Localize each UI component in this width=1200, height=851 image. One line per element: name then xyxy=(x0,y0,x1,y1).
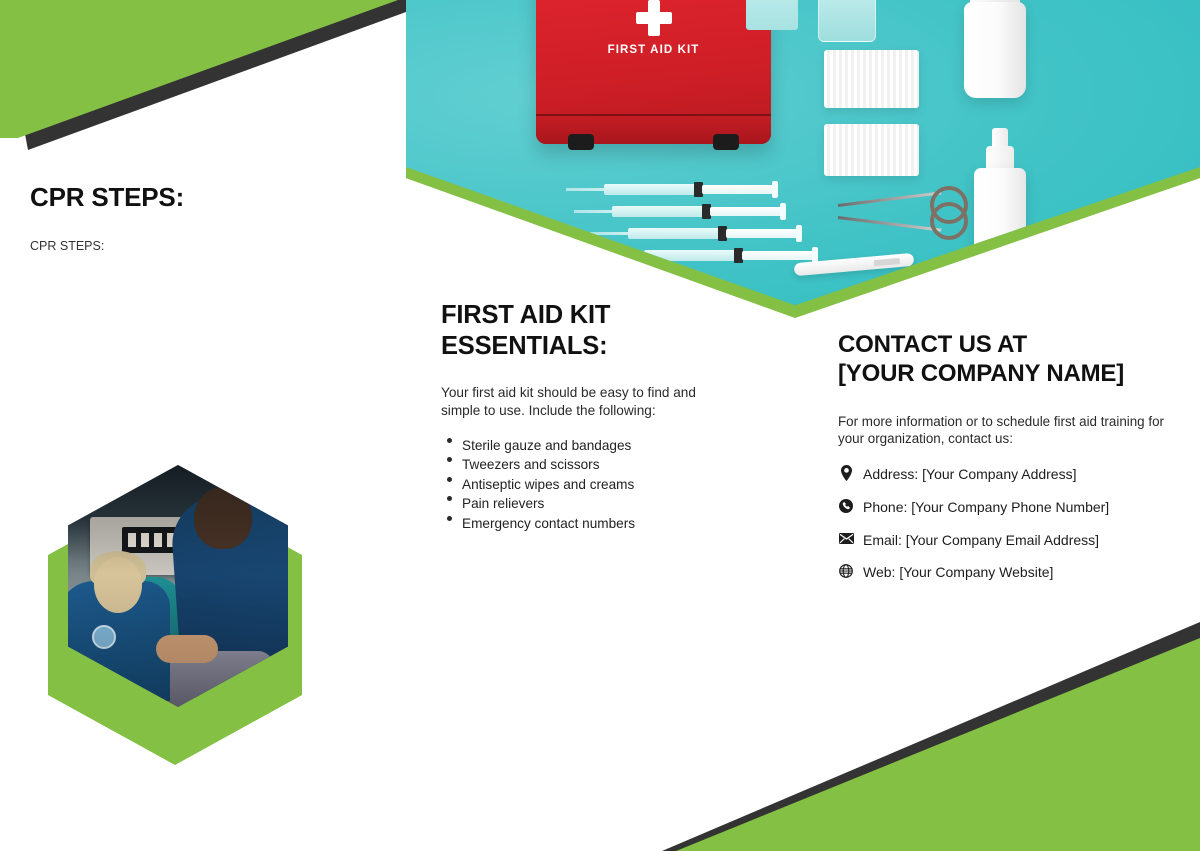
contact-text: Phone: [Your Company Phone Number] xyxy=(863,499,1109,515)
contact-text: Web: [Your Company Website] xyxy=(863,564,1053,580)
contact-intro-text: For more information or to schedule firs… xyxy=(838,413,1168,448)
cpr-steps-subtext: CPR STEPS: xyxy=(30,238,370,254)
envelope-icon xyxy=(838,531,854,547)
contact-heading-line2: [YOUR COMPANY NAME] xyxy=(838,360,1124,387)
cpr-steps-heading: CPR STEPS: xyxy=(30,182,370,214)
list-item: Pain relievers xyxy=(441,494,711,514)
kit-items-list: Sterile gauze and bandages Tweezers and … xyxy=(441,436,711,534)
kit-heading-line2: ESSENTIALS: xyxy=(441,332,607,360)
list-item: Tweezers and scissors xyxy=(441,455,711,475)
list-item: Sterile gauze and bandages xyxy=(441,436,711,456)
contact-text: Email: [Your Company Email Address] xyxy=(863,532,1099,548)
contact-text: Address: [Your Company Address] xyxy=(863,466,1077,482)
contact-heading: CONTACT US AT[YOUR COMPANY NAME] xyxy=(838,330,1168,389)
contact-row-address: Address: [Your Company Address] xyxy=(838,466,1168,483)
first-aid-kit-section: FIRST AID KITESSENTIALS: Your first aid … xyxy=(441,300,711,533)
kit-intro-text: Your first aid kit should be easy to fin… xyxy=(441,384,711,419)
list-item: Antiseptic wipes and creams xyxy=(441,475,711,495)
contact-heading-line1: CONTACT US AT xyxy=(838,331,1027,358)
phone-icon xyxy=(838,498,854,514)
globe-icon xyxy=(838,563,854,579)
list-item: Emergency contact numbers xyxy=(441,514,711,534)
contact-details-list: Address: [Your Company Address] Phone: [… xyxy=(838,466,1168,581)
kit-heading: FIRST AID KITESSENTIALS: xyxy=(441,300,711,362)
contact-row-email: Email: [Your Company Email Address] xyxy=(838,532,1168,549)
cpr-steps-section: CPR STEPS: CPR STEPS: xyxy=(30,182,370,254)
contact-row-web: Web: [Your Company Website] xyxy=(838,564,1168,581)
brochure-page: FIRST AID KIT xyxy=(0,0,1200,851)
contact-section: CONTACT US AT[YOUR COMPANY NAME] For mor… xyxy=(838,330,1168,597)
contact-row-phone: Phone: [Your Company Phone Number] xyxy=(838,499,1168,516)
kit-heading-line1: FIRST AID KIT xyxy=(441,301,610,329)
map-pin-icon xyxy=(838,465,854,481)
